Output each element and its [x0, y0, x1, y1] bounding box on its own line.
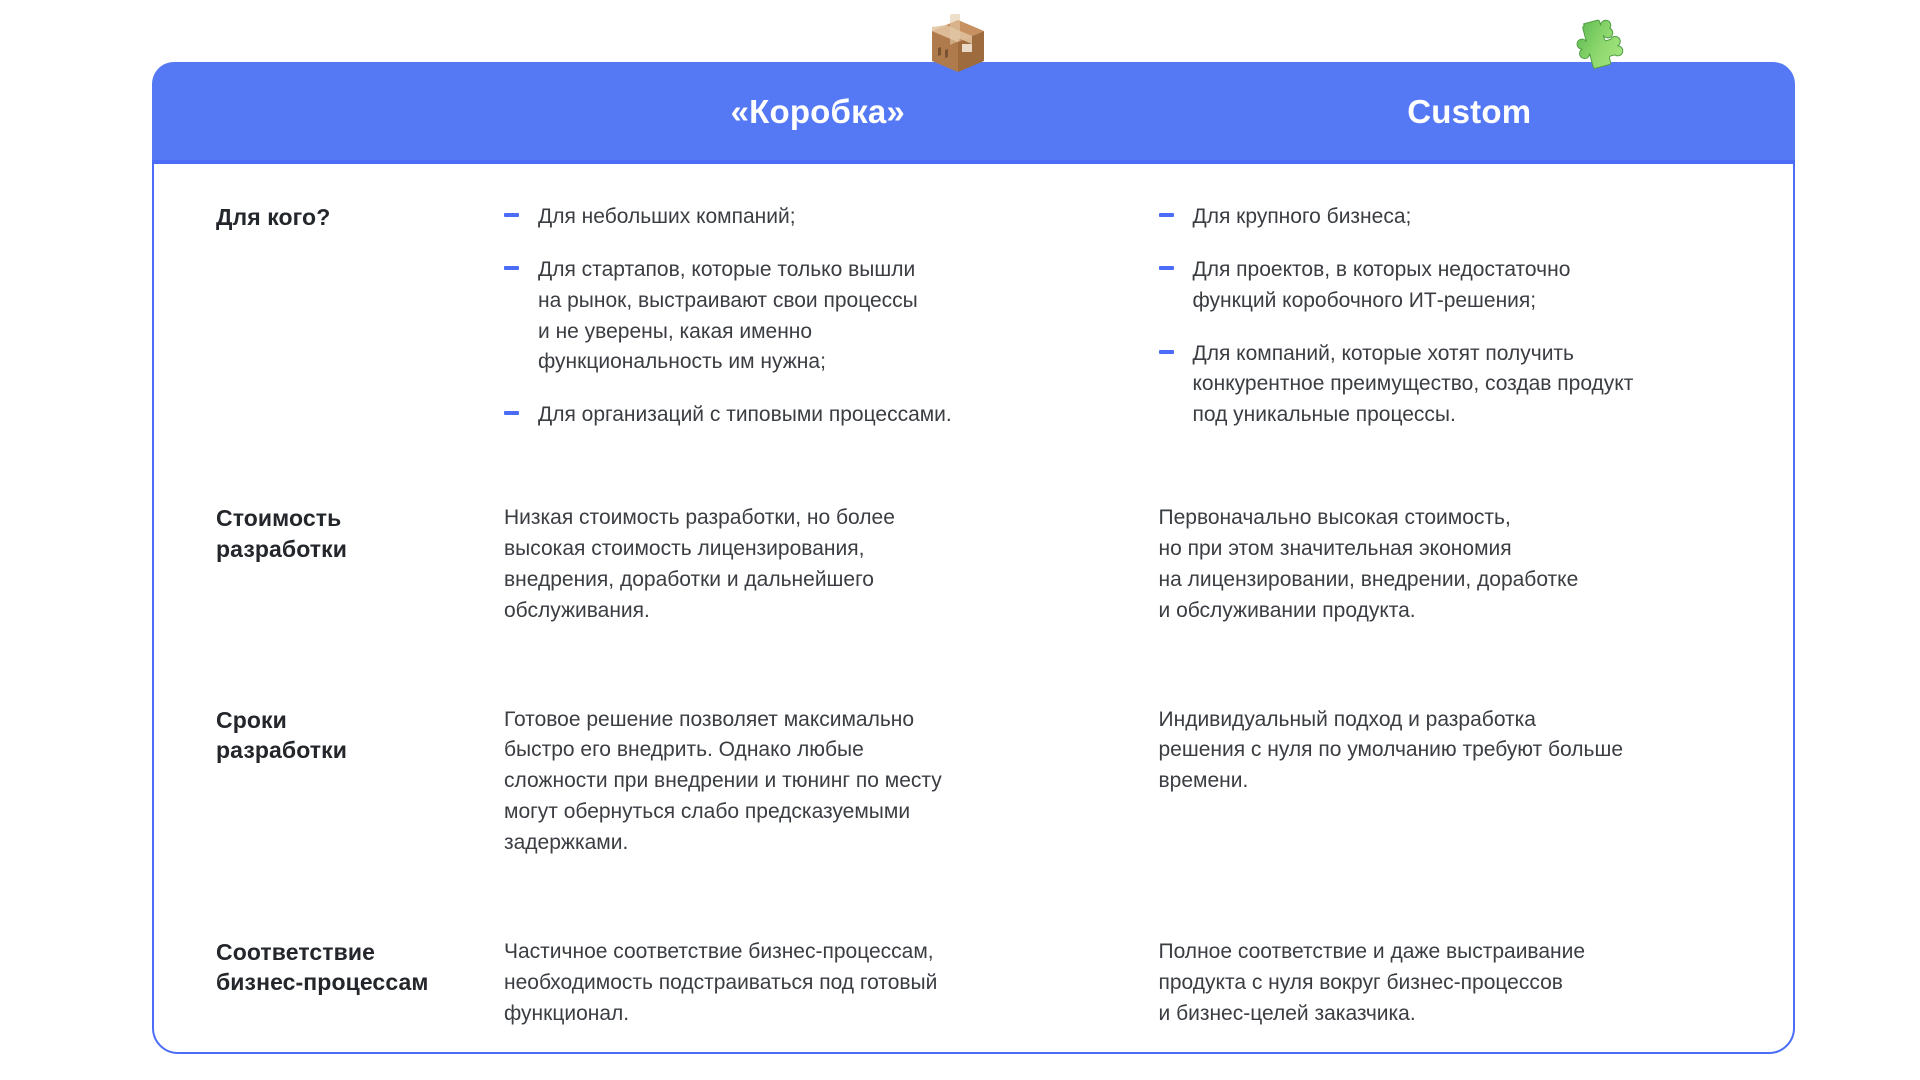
- dash-bullet-icon: [1159, 350, 1174, 354]
- list-item: Для проектов, в которых недостаточно фун…: [1159, 255, 1760, 317]
- cell-text: Частичное соответствие бизнес-процессам,…: [504, 937, 1105, 1030]
- table-row: Сроки разработки Готовое решение позволя…: [154, 627, 1793, 859]
- table-row: Для кого? Для небольших компаний; Для ст…: [154, 164, 1793, 431]
- row-cell-boxed: Готовое решение позволяет максимально бы…: [494, 705, 1139, 859]
- dash-bullet-icon: [1159, 266, 1174, 270]
- list-item: Для стартапов, которые только вышли на р…: [504, 255, 1105, 378]
- list-item-text: Для проектов, в которых недостаточно фун…: [1193, 258, 1571, 312]
- list-item-text: Для небольших компаний;: [538, 205, 796, 228]
- list-item-text: Для организаций с типовыми процессами.: [538, 403, 952, 426]
- card-body: Для кого? Для небольших компаний; Для ст…: [154, 164, 1793, 1029]
- dash-bullet-icon: [504, 266, 519, 270]
- table-row: Соответствие бизнес-процессам Частичное …: [154, 859, 1793, 1030]
- row-label: Для кого?: [154, 202, 494, 232]
- row-cell-custom: Первоначально высокая стоимость, но при …: [1139, 503, 1794, 626]
- header-title-boxed: «Коробка»: [731, 95, 905, 128]
- puzzle-piece-icon: [1562, 3, 1640, 81]
- package-box-icon: [926, 14, 990, 78]
- row-cell-boxed: Низкая стоимость разработки, но более вы…: [494, 503, 1139, 626]
- cell-text: Низкая стоимость разработки, но более вы…: [504, 503, 1105, 626]
- row-cell-custom: Индивидуальный подход и разработка решен…: [1139, 705, 1794, 798]
- card-header: «Коробка»: [152, 62, 1795, 164]
- table-row: Стоимость разработки Низкая стоимость ра…: [154, 431, 1793, 626]
- list-item: Для крупного бизнеса;: [1159, 202, 1760, 233]
- row-cell-custom: Для крупного бизнеса; Для проектов, в ко…: [1139, 202, 1794, 431]
- cell-text: Готовое решение позволяет максимально бы…: [504, 705, 1105, 859]
- header-title-custom: Custom: [1407, 95, 1531, 128]
- comparison-card: «Коробка»: [152, 62, 1795, 1054]
- comparison-page: «Коробка»: [0, 0, 1920, 1080]
- cell-text: Полное соответствие и даже выстраивание …: [1159, 937, 1760, 1030]
- row-cell-boxed: Для небольших компаний; Для стартапов, к…: [494, 202, 1139, 431]
- dash-bullet-icon: [1159, 213, 1174, 217]
- row-cell-custom: Полное соответствие и даже выстраивание …: [1139, 937, 1794, 1030]
- list-item-text: Для стартапов, которые только вышли на р…: [538, 258, 918, 374]
- list-item: Для организаций с типовыми процессами.: [504, 400, 1105, 431]
- header-column-custom: Custom: [1144, 62, 1796, 160]
- cell-text: Первоначально высокая стоимость, но при …: [1159, 503, 1760, 626]
- dash-bullet-icon: [504, 411, 519, 415]
- bullet-list: Для небольших компаний; Для стартапов, к…: [504, 202, 1105, 431]
- row-label: Стоимость разработки: [154, 503, 494, 564]
- row-label: Сроки разработки: [154, 705, 494, 766]
- cell-text: Индивидуальный подход и разработка решен…: [1159, 705, 1760, 798]
- header-column-boxed: «Коробка»: [492, 62, 1144, 160]
- list-item-text: Для компаний, которые хотят получить кон…: [1193, 342, 1634, 427]
- list-item: Для компаний, которые хотят получить кон…: [1159, 339, 1760, 432]
- bullet-list: Для крупного бизнеса; Для проектов, в ко…: [1159, 202, 1760, 431]
- dash-bullet-icon: [504, 213, 519, 217]
- list-item: Для небольших компаний;: [504, 202, 1105, 233]
- row-label: Соответствие бизнес-процессам: [154, 937, 494, 998]
- row-cell-boxed: Частичное соответствие бизнес-процессам,…: [494, 937, 1139, 1030]
- list-item-text: Для крупного бизнеса;: [1193, 205, 1412, 228]
